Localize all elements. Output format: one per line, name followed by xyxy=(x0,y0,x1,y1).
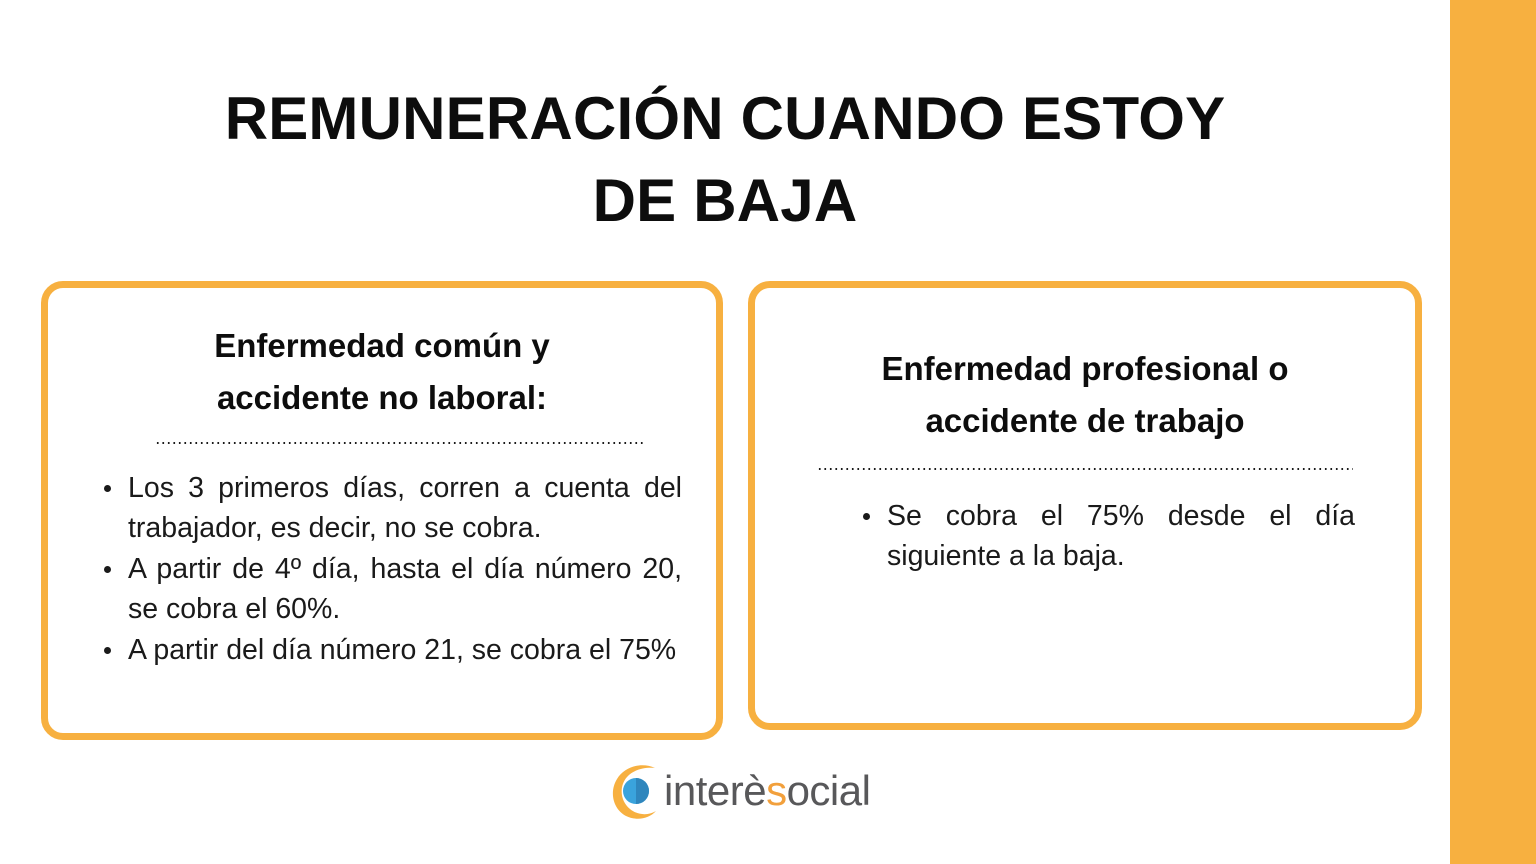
card-enfermedad-comun: Enfermedad común y accidente no laboral:… xyxy=(41,281,723,740)
card-enfermedad-profesional: Enfermedad profesional o accidente de tr… xyxy=(748,281,1422,730)
crescent-circle-logo-icon xyxy=(606,760,668,822)
card-right-heading-line-1: Enfermedad profesional o xyxy=(881,350,1288,387)
list-item: A partir de 4º día, hasta el día número … xyxy=(96,549,682,629)
card-right-bullet-list: Se cobra el 75% desde el día siguiente a… xyxy=(855,496,1355,576)
card-right-heading-line-2: accidente de trabajo xyxy=(925,402,1244,439)
card-left-heading-line-1: Enfermedad común y xyxy=(214,327,550,364)
card-left-bullet-list: Los 3 primeros días, corren a cuenta del… xyxy=(96,468,682,670)
list-item: A partir del día número 21, se cobra el … xyxy=(96,630,682,670)
card-right-heading: Enfermedad profesional o accidente de tr… xyxy=(755,288,1415,447)
logo-text-part-2: ocial xyxy=(787,767,871,814)
interesocial-logo: interèsocial xyxy=(606,760,870,822)
card-left-content: Enfermedad común y accidente no laboral:… xyxy=(48,288,716,733)
list-item: Los 3 primeros días, corren a cuenta del… xyxy=(96,468,682,548)
card-right-dotted-divider xyxy=(817,466,1353,470)
title-line-1: REMUNERACIÓN CUANDO ESTOY xyxy=(0,78,1450,160)
card-right-content: Enfermedad profesional o accidente de tr… xyxy=(755,288,1415,723)
title-line-2: DE BAJA xyxy=(0,160,1450,242)
card-left-heading: Enfermedad común y accidente no laboral: xyxy=(48,288,716,424)
logo-wordmark: interèsocial xyxy=(664,768,870,814)
page-title: REMUNERACIÓN CUANDO ESTOY DE BAJA xyxy=(0,78,1450,242)
list-item: Se cobra el 75% desde el día siguiente a… xyxy=(855,496,1355,576)
right-accent-band xyxy=(1450,0,1536,864)
card-left-dotted-divider xyxy=(155,440,644,444)
card-left-heading-line-2: accidente no laboral: xyxy=(217,379,547,416)
logo-text-part-1: interè xyxy=(664,767,766,814)
slide-canvas: REMUNERACIÓN CUANDO ESTOY DE BAJA Enferm… xyxy=(0,0,1536,864)
logo-text-accent: s xyxy=(766,767,787,814)
